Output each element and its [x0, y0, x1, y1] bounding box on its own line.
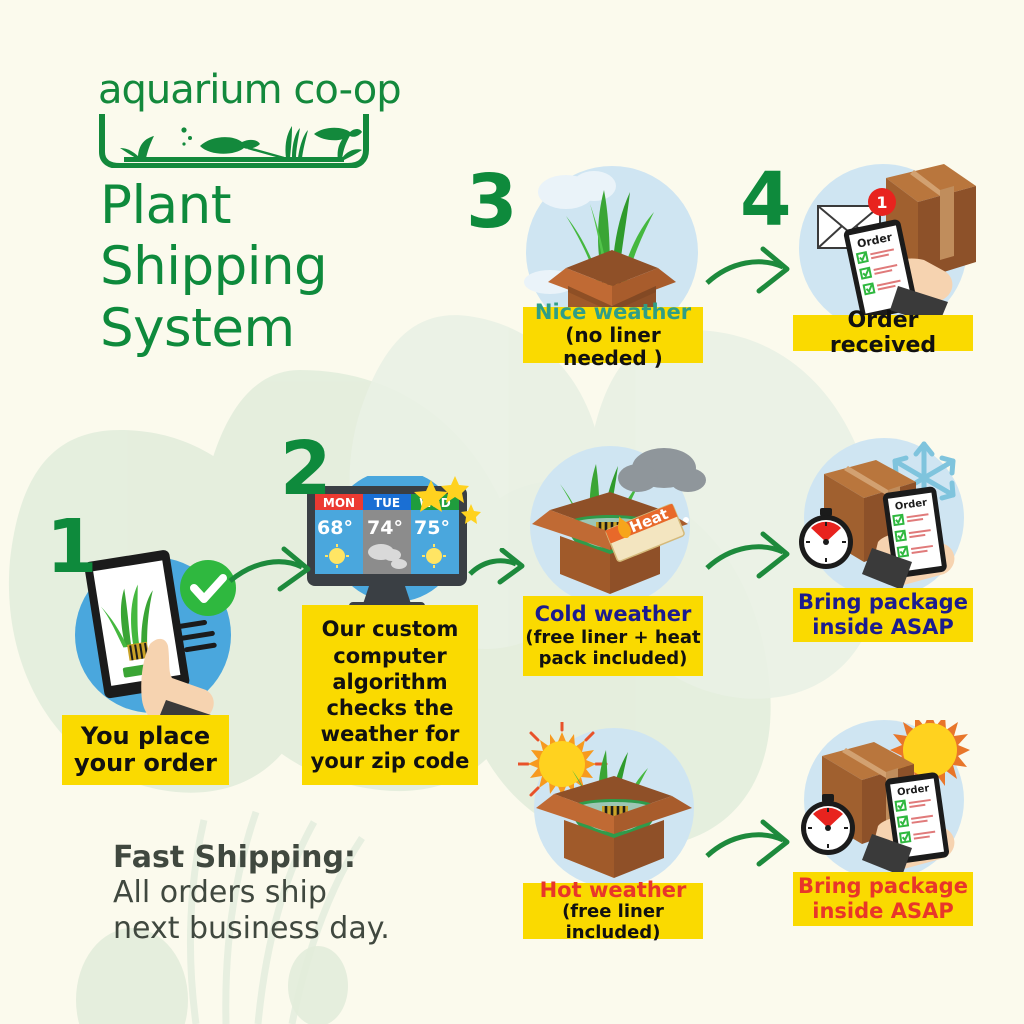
step-number-2: 2: [280, 432, 332, 506]
caption-step-2-line-2: computer: [333, 643, 446, 669]
caption-step-1-line-2: your order: [74, 750, 217, 777]
fast-shipping-line-1: All orders ship: [113, 875, 390, 910]
fast-shipping-heading: Fast Shipping:: [113, 840, 390, 875]
caption-cold-bring-inside-line-1: Bring package: [798, 590, 968, 615]
curved-arrow-right-nice: [705, 245, 793, 297]
caption-hot-bring-inside: Bring package inside ASAP: [793, 872, 973, 926]
aquarium-tank-icon: [98, 112, 370, 168]
caption-step-2-line-4: checks the: [326, 695, 453, 721]
caption-cold-weather-note-2: pack included): [539, 648, 688, 669]
caption-hot-weather-note: (free liner included): [525, 902, 701, 943]
fast-shipping-block: Fast Shipping: All orders ship next busi…: [113, 840, 390, 946]
notification-badge: 1: [868, 188, 896, 216]
caption-cold-weather: Cold weather (free liner + heat pack inc…: [523, 596, 703, 676]
caption-hot-bring-inside-line-1: Bring package: [798, 874, 968, 899]
caption-nice-weather-title: Nice weather: [535, 300, 691, 324]
scene-hot-bring-inside: Order: [790, 720, 978, 886]
caption-step-1-line-1: You place: [81, 723, 210, 750]
caption-order-received: Order received: [793, 315, 973, 351]
step-number-4: 4: [740, 163, 792, 237]
page-title-line-3: System: [100, 298, 327, 359]
curved-arrow-right-cold: [705, 530, 793, 582]
caption-hot-weather: Hot weather (free liner included): [523, 883, 703, 939]
page-title-line-1: Plant: [100, 175, 327, 236]
scene-hot-weather-box: [518, 722, 708, 890]
scene-cold-weather-box: Heat: [518, 440, 708, 604]
brand-logo-text: aquarium co-op: [98, 70, 401, 110]
step-number-1: 1: [46, 510, 98, 584]
caption-step-2-line-3: algorithm: [332, 669, 447, 695]
caption-step-2-line-6: your zip code: [311, 748, 470, 774]
caption-step-2: Our custom computer algorithm checks the…: [302, 605, 478, 785]
caption-step-2-line-5: weather for: [321, 721, 460, 747]
svg-text:74°: 74°: [367, 517, 403, 539]
svg-text:68°: 68°: [317, 517, 353, 539]
fast-shipping-line-2: next business day.: [113, 911, 390, 946]
page-title-line-2: Shipping: [100, 236, 327, 297]
caption-cold-bring-inside: Bring package inside ASAP: [793, 588, 973, 642]
infographic-canvas: aquarium co-op: [0, 0, 1024, 1024]
caption-hot-bring-inside-line-2: inside ASAP: [812, 899, 953, 924]
brand-logo: aquarium co-op: [98, 70, 401, 173]
caption-cold-bring-inside-line-2: inside ASAP: [812, 615, 953, 640]
curved-arrow-right-2: [468, 548, 528, 588]
curved-arrow-right-hot: [705, 818, 793, 870]
curved-arrow-right-1: [228, 545, 314, 595]
caption-step-1: You place your order: [62, 715, 229, 785]
caption-cold-weather-note-1: (free liner + heat: [525, 627, 700, 648]
caption-order-received-label: Order received: [793, 308, 973, 358]
caption-step-2-line-1: Our custom: [322, 616, 459, 642]
svg-text:75°: 75°: [414, 517, 450, 539]
svg-text:TUE: TUE: [374, 496, 400, 510]
caption-nice-weather: Nice weather (no liner needed ): [523, 307, 703, 363]
page-title: Plant Shipping System: [100, 175, 327, 359]
caption-hot-weather-title: Hot weather: [540, 878, 687, 902]
svg-text:1: 1: [876, 193, 887, 212]
caption-cold-weather-title: Cold weather: [535, 602, 692, 627]
scene-cold-bring-inside: Order: [790, 438, 978, 604]
caption-nice-weather-note: (no liner needed ): [525, 324, 701, 370]
step-number-3: 3: [466, 165, 518, 239]
